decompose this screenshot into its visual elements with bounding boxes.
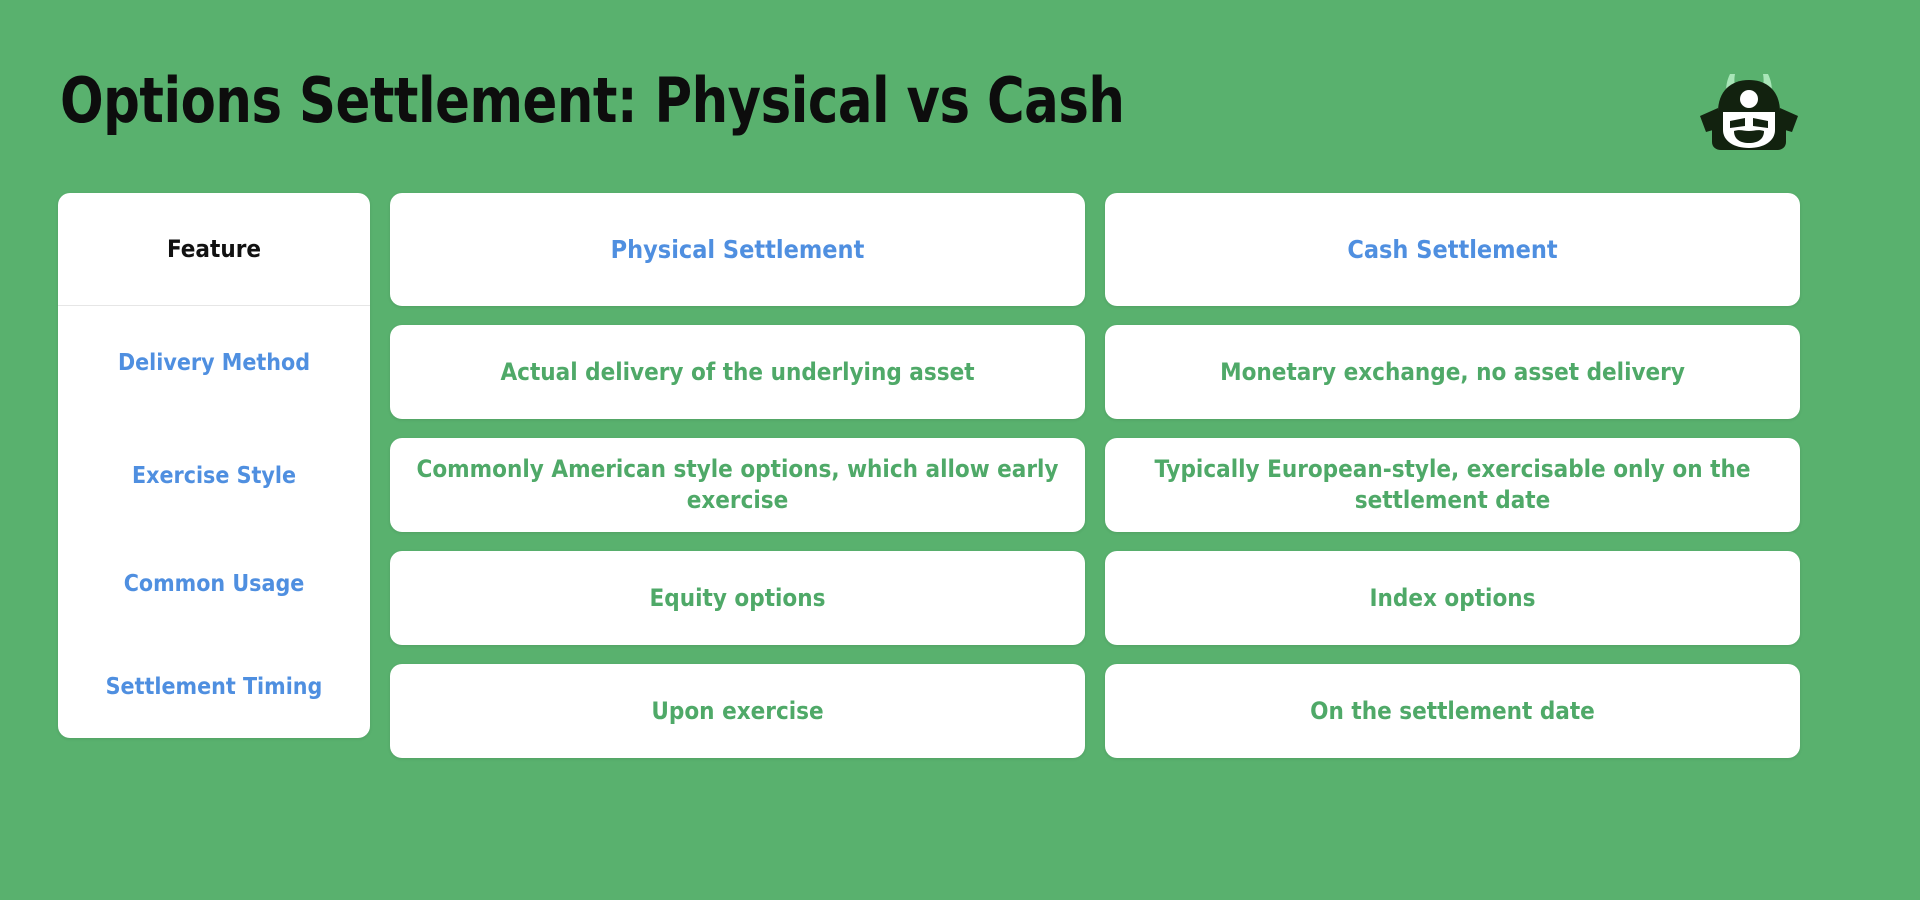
column-physical-settlement: Physical Settlement Actual delivery of t… bbox=[390, 193, 1085, 758]
samurai-helmet-logo bbox=[1690, 68, 1800, 152]
cell-physical-delivery-method: Actual delivery of the underlying asset bbox=[390, 325, 1085, 419]
feature-label-exercise-style: Exercise Style bbox=[58, 419, 370, 532]
cell-cash-common-usage: Index options bbox=[1105, 551, 1800, 645]
column-header-physical-settlement: Physical Settlement bbox=[390, 193, 1085, 306]
cell-physical-common-usage: Equity options bbox=[390, 551, 1085, 645]
slide-header: Options Settlement: Physical vs Cash bbox=[0, 0, 1920, 185]
feature-column: Feature Delivery Method Exercise Style C… bbox=[58, 193, 370, 738]
feature-label-common-usage: Common Usage bbox=[58, 532, 370, 635]
feature-label-delivery-method: Delivery Method bbox=[58, 306, 370, 419]
column-cash-settlement: Cash Settlement Monetary exchange, no as… bbox=[1105, 193, 1800, 758]
comparison-table: Feature Delivery Method Exercise Style C… bbox=[58, 193, 1800, 758]
cell-cash-exercise-style: Typically European-style, exercisable on… bbox=[1105, 438, 1800, 532]
slide-root: Options Settlement: Physical vs Cash bbox=[0, 0, 1920, 900]
feature-column-header: Feature bbox=[58, 193, 370, 306]
column-header-cash-settlement: Cash Settlement bbox=[1105, 193, 1800, 306]
cell-cash-settlement-timing: On the settlement date bbox=[1105, 664, 1800, 758]
cell-cash-delivery-method: Monetary exchange, no asset delivery bbox=[1105, 325, 1800, 419]
cell-physical-exercise-style: Commonly American style options, which a… bbox=[390, 438, 1085, 532]
page-title: Options Settlement: Physical vs Cash bbox=[60, 70, 1125, 132]
cell-physical-settlement-timing: Upon exercise bbox=[390, 664, 1085, 758]
feature-label-settlement-timing: Settlement Timing bbox=[58, 635, 370, 738]
data-columns: Physical Settlement Actual delivery of t… bbox=[390, 193, 1800, 758]
